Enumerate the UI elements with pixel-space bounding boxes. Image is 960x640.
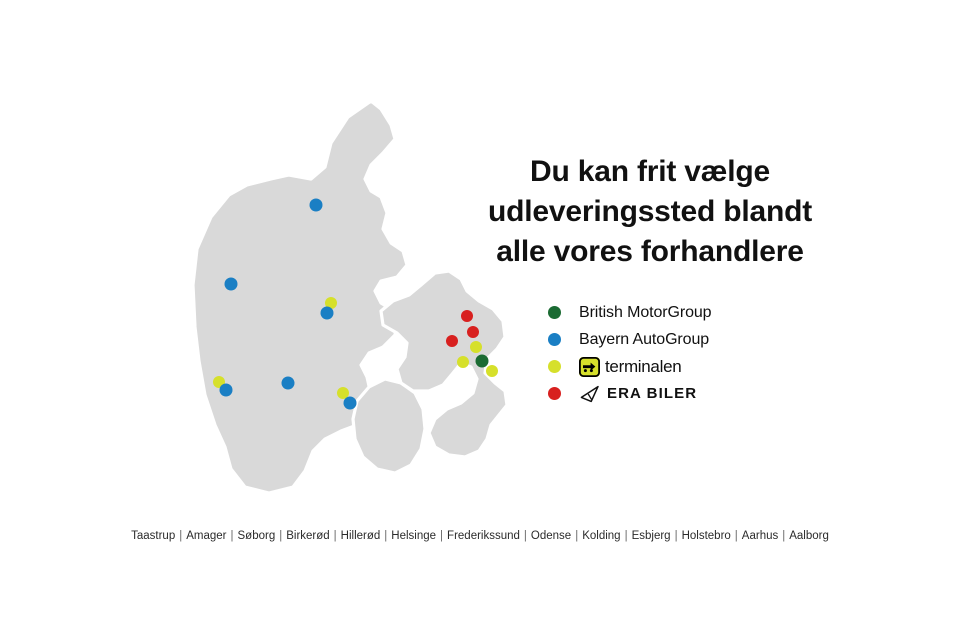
terminalen-wordmark: terminalen xyxy=(605,358,681,376)
terminalen-logo-icon xyxy=(579,357,600,377)
map-marker-helsinge-era[interactable] xyxy=(461,310,473,322)
legend-item-bayern-autogroup[interactable]: Bayern AutoGroup xyxy=(548,327,838,352)
city-name: Amager xyxy=(182,530,230,542)
map-marker-odense-bayern[interactable] xyxy=(344,397,357,410)
map-marker-soborg-british[interactable] xyxy=(476,355,489,368)
era-biler-logo-icon xyxy=(579,385,601,403)
city-name: Aarhus xyxy=(738,530,782,542)
era-biler-logo: ERA BILER xyxy=(579,385,697,403)
brand-legend: British MotorGroup Bayern AutoGroup term… xyxy=(548,300,838,408)
map-marker-birkerod-terminalen[interactable] xyxy=(470,341,482,353)
city-name: Frederikssund xyxy=(443,530,524,542)
city-name: Aalborg xyxy=(785,530,833,542)
map-marker-amager-terminalen[interactable] xyxy=(486,365,498,377)
city-name: Søborg xyxy=(234,530,280,542)
city-name: Kolding xyxy=(578,530,624,542)
map-marker-aarhus-bayern[interactable] xyxy=(321,307,334,320)
blue-dot-icon xyxy=(548,333,561,346)
map-marker-kolding-bayern[interactable] xyxy=(282,377,295,390)
city-name: Odense xyxy=(527,530,575,542)
city-name: Holstebro xyxy=(678,530,735,542)
legend-item-british-motorgroup[interactable]: British MotorGroup xyxy=(548,300,838,325)
poster-canvas: Du kan frit vælge udleveringssted blandt… xyxy=(0,0,960,640)
city-name: Birkerød xyxy=(282,530,333,542)
map-marker-frederikssund-era[interactable] xyxy=(446,335,458,347)
legend-label-bayern-autogroup: Bayern AutoGroup xyxy=(579,331,709,349)
legend-item-terminalen[interactable]: terminalen xyxy=(548,354,838,379)
terminalen-logo: terminalen xyxy=(579,357,681,377)
green-dot-icon xyxy=(548,306,561,319)
city-name: Hillerød xyxy=(337,530,385,542)
page-title: Du kan frit vælge udleveringssted blandt… xyxy=(470,152,830,272)
era-biler-wordmark: ERA BILER xyxy=(607,386,697,402)
headline-line-1: Du kan frit vælge xyxy=(470,152,830,192)
city-list: Taastrup|Amager|Søborg|Birkerød|Hillerød… xyxy=(0,529,960,543)
yellow-dot-icon xyxy=(548,360,561,373)
red-dot-icon xyxy=(548,387,561,400)
map-marker-holstebro-bayern[interactable] xyxy=(225,278,238,291)
map-marker-taastrup-terminalen[interactable] xyxy=(457,356,469,368)
city-name: Helsinge xyxy=(387,530,440,542)
city-name: Esbjerg xyxy=(628,530,675,542)
map-marker-esbjerg-bayern[interactable] xyxy=(220,384,233,397)
map-marker-aalborg-bayern[interactable] xyxy=(310,199,323,212)
legend-label-british-motorgroup: British MotorGroup xyxy=(579,304,711,322)
map-marker-hillerod-era[interactable] xyxy=(467,326,479,338)
headline-line-2: udleveringssted blandt xyxy=(470,192,830,232)
headline-line-3: alle vores forhandlere xyxy=(470,232,830,272)
legend-item-era-biler[interactable]: ERA BILER xyxy=(548,381,838,406)
city-name: Taastrup xyxy=(127,530,179,542)
